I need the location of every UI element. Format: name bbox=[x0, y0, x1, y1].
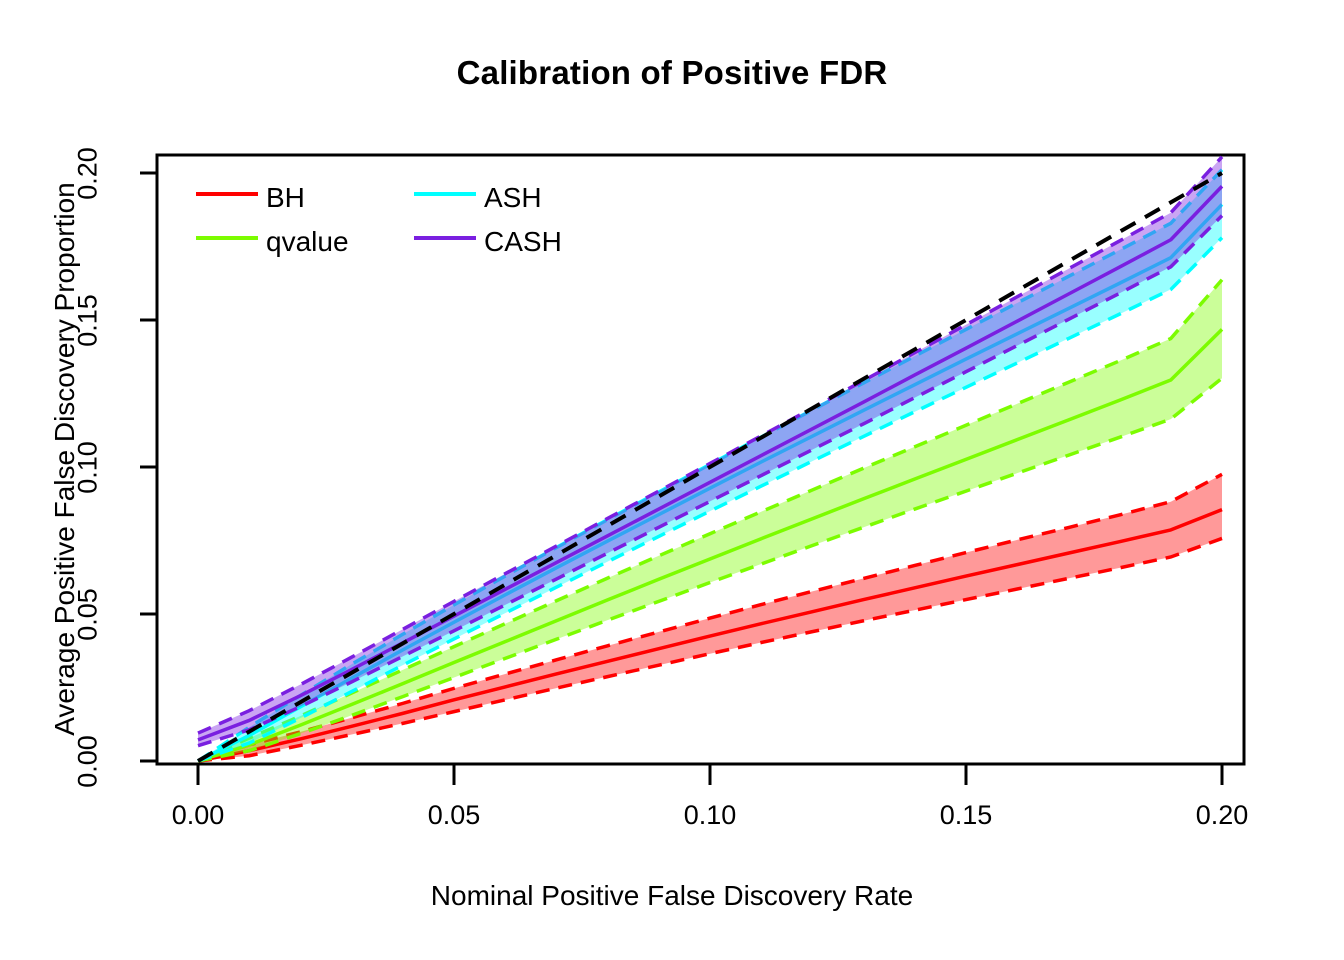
reference-line-group bbox=[198, 173, 1222, 761]
legend-label-ash: ASH bbox=[484, 182, 542, 214]
chart-figure: Calibration of Positive FDR Average Posi… bbox=[0, 0, 1344, 960]
plot-canvas bbox=[0, 0, 1344, 960]
legend-label-qvalue: qvalue bbox=[266, 226, 349, 258]
data-series-group bbox=[198, 157, 1222, 761]
legend-label-bh: BH bbox=[266, 182, 305, 214]
reference-line-identity bbox=[198, 173, 1222, 761]
legend-label-cash: CASH bbox=[484, 226, 562, 258]
